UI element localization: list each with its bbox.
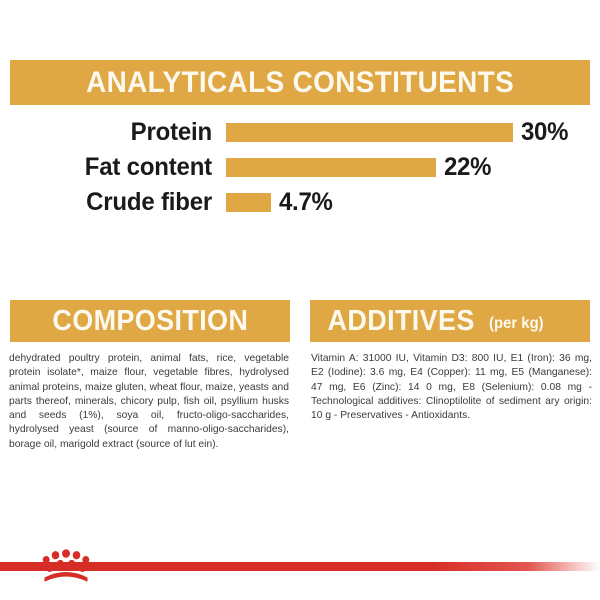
- analyticals-bar-chart: Protein 30% Fat content 22% Crude fiber …: [0, 115, 600, 220]
- additives-header: ADDITIVES (per kg): [310, 300, 590, 342]
- bar-value-fat-content: 22%: [444, 153, 491, 182]
- chart-row-crude-fiber: Crude fiber 4.7%: [0, 185, 600, 220]
- composition-body-text: dehydrated poultry protein, animal fats,…: [9, 352, 289, 452]
- royal-canin-crown-icon: [40, 548, 92, 588]
- nutrition-label-page: ANALYTICALS CONSTITUENTS Protein 30% Fat…: [0, 0, 600, 600]
- bar-fill-protein: [226, 123, 513, 142]
- analyticals-constituents-header: ANALYTICALS CONSTITUENTS: [10, 60, 590, 105]
- chart-label-protein: Protein: [1, 118, 212, 147]
- analyticals-header-title: ANALYTICALS CONSTITUENTS: [86, 66, 514, 100]
- chart-row-fat-content: Fat content 22%: [0, 150, 600, 185]
- bar-track-fat-content: 22%: [226, 150, 600, 185]
- chart-row-protein: Protein 30%: [0, 115, 600, 150]
- bar-track-crude-fiber: 4.7%: [226, 185, 600, 220]
- composition-header-title: COMPOSITION: [52, 305, 248, 338]
- bar-fill-crude-fiber: [226, 193, 271, 212]
- bar-value-crude-fiber: 4.7%: [279, 188, 333, 217]
- additives-header-subtitle: (per kg): [489, 315, 544, 333]
- bar-value-protein: 30%: [521, 118, 568, 147]
- additives-body-text: Vitamin A: 31000 IU, Vitamin D3: 800 IU,…: [311, 352, 592, 423]
- composition-header: COMPOSITION: [10, 300, 290, 342]
- chart-label-fat-content: Fat content: [1, 153, 212, 182]
- additives-header-title: ADDITIVES: [328, 305, 475, 338]
- chart-label-crude-fiber: Crude fiber: [1, 188, 212, 217]
- bar-track-protein: 30%: [226, 115, 600, 150]
- bar-fill-fat-content: [226, 158, 436, 177]
